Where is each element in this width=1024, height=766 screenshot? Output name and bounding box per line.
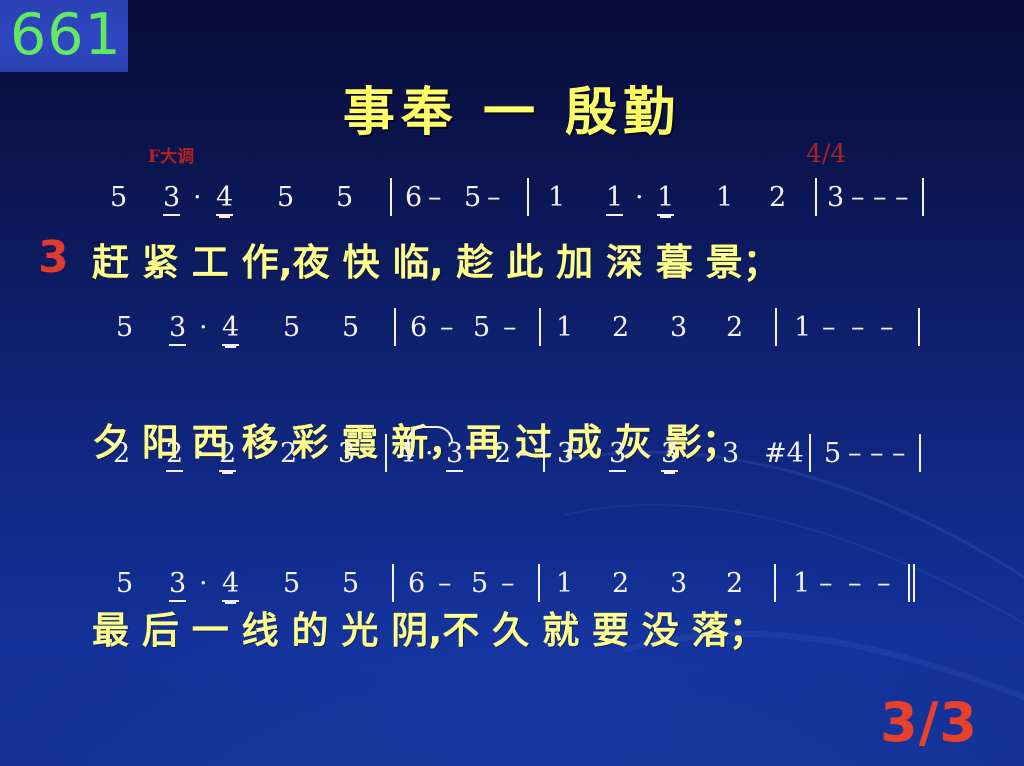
note-dash: – — [438, 568, 452, 599]
note-dash: – — [880, 312, 894, 343]
note-dash: – — [819, 568, 833, 599]
note: 3 — [609, 438, 626, 472]
music-system: 53·4556–5–12321––– — [0, 568, 1024, 612]
note: 4 — [398, 438, 415, 469]
hymn-number: 661 — [10, 2, 122, 68]
note: 3 — [163, 182, 180, 216]
barline — [390, 178, 392, 216]
barline — [527, 178, 529, 216]
note-dash: – — [487, 182, 501, 213]
page-counter: 3/3 — [880, 691, 978, 754]
note: 5 — [342, 568, 359, 599]
note-dash: – — [501, 568, 515, 599]
note: 1 — [716, 182, 733, 213]
hymn-number-badge: 661 — [0, 0, 128, 72]
note: 5 — [110, 182, 127, 213]
note: 5 — [342, 312, 359, 343]
note: 3 — [722, 438, 739, 469]
note-dash: – — [848, 438, 862, 469]
note: 3 — [557, 438, 574, 469]
notation-row: 53·4556–5–12321––– — [0, 312, 1024, 356]
note: 3 — [670, 568, 687, 599]
note-dash: – — [848, 568, 862, 599]
barline — [918, 308, 920, 346]
lyrics-line: 赶 紧 工 作,夜 快 临, 趁 此 加 深 暮 景； — [92, 232, 1024, 286]
note: 3 — [827, 182, 844, 213]
barline — [392, 564, 394, 602]
note-dash: – — [895, 182, 909, 213]
note: 1 — [794, 312, 811, 343]
note-dot: · — [193, 182, 202, 213]
note-dash: – — [428, 182, 442, 213]
note-dash: – — [822, 312, 836, 343]
music-system: 53·4556–5–12321––– — [0, 312, 1024, 356]
note: 4 — [222, 312, 239, 346]
note: 2 — [113, 438, 130, 469]
note-dash: – — [503, 312, 517, 343]
note: 2 — [726, 312, 743, 343]
note: 5 — [471, 568, 488, 599]
note-dash: – — [440, 312, 454, 343]
tie-slur — [407, 426, 453, 442]
sharp-note: #4 — [764, 438, 804, 469]
note: 5 — [473, 312, 490, 343]
note: 4 — [222, 568, 239, 602]
note-dot: · — [199, 568, 208, 599]
note-dash: – — [877, 568, 891, 599]
note-dash: – — [873, 182, 887, 213]
note-dash: – — [517, 438, 531, 469]
note: 3 — [446, 438, 463, 472]
note: 3 — [338, 438, 355, 469]
barline — [775, 308, 777, 346]
note-dot: · — [199, 312, 208, 343]
barline — [543, 434, 545, 472]
note: 2 — [166, 438, 183, 472]
note: 6 — [410, 312, 427, 343]
note: 3 — [661, 438, 678, 472]
music-system: 53·4556–5–11·1123––– — [0, 182, 1024, 226]
note: 3 — [670, 312, 687, 343]
note: 5 — [283, 568, 300, 599]
note: 2 — [612, 568, 629, 599]
note: 3 — [169, 568, 186, 602]
time-signature: 4/4 — [806, 139, 846, 168]
note: 5 — [336, 182, 353, 213]
note: 5 — [116, 568, 133, 599]
note: 5 — [116, 312, 133, 343]
note: 6 — [408, 568, 425, 599]
note: 1 — [556, 312, 573, 343]
note-dash: – — [892, 438, 906, 469]
music-system: 22·2234·32–33·33#45––– — [0, 438, 1024, 482]
note: 2 — [494, 438, 511, 469]
key-signature: F大调 — [148, 142, 194, 167]
note: 1 — [548, 182, 565, 213]
notation-row: 53·4556–5–11·1123––– — [0, 182, 1024, 226]
note: 4 — [216, 182, 233, 216]
hymn-slide: 661 事奉 一 殷勤 F大调 4/4 53·4556–5–11·1123–––… — [0, 0, 1024, 766]
notation-row: 53·4556–5–12321––– — [0, 568, 1024, 612]
barline — [385, 434, 387, 472]
note: 1 — [657, 182, 674, 216]
barline — [774, 564, 776, 602]
note-dot: · — [425, 438, 434, 469]
note: 5 — [277, 182, 294, 213]
note: 3 — [169, 312, 186, 346]
note: 5 — [464, 182, 481, 213]
note-dash: – — [851, 182, 865, 213]
note-dot: · — [639, 438, 648, 469]
note-dot: · — [196, 438, 205, 469]
note-dot: · — [635, 182, 644, 213]
note: 2 — [726, 568, 743, 599]
note: 5 — [824, 438, 841, 469]
barline — [919, 434, 921, 472]
note-dash: – — [851, 312, 865, 343]
barline — [922, 178, 924, 216]
barline — [394, 308, 396, 346]
note: 1 — [606, 182, 623, 216]
barline — [809, 434, 811, 472]
notation-row: 22·2234·32–33·33#45––– — [0, 438, 1024, 482]
note-dash: – — [870, 438, 884, 469]
page-title: 事奉 一 殷勤 — [0, 70, 1024, 145]
barline — [539, 308, 541, 346]
note: 5 — [283, 312, 300, 343]
note: 2 — [612, 312, 629, 343]
note: 2 — [219, 438, 236, 472]
barline — [538, 564, 540, 602]
note: 2 — [280, 438, 297, 469]
final-barline — [908, 564, 915, 602]
verse-number: 3 — [38, 232, 69, 283]
barline — [815, 178, 817, 216]
note: 1 — [556, 568, 573, 599]
note: 1 — [793, 568, 810, 599]
note: 2 — [769, 182, 786, 213]
note: 6 — [405, 182, 422, 213]
